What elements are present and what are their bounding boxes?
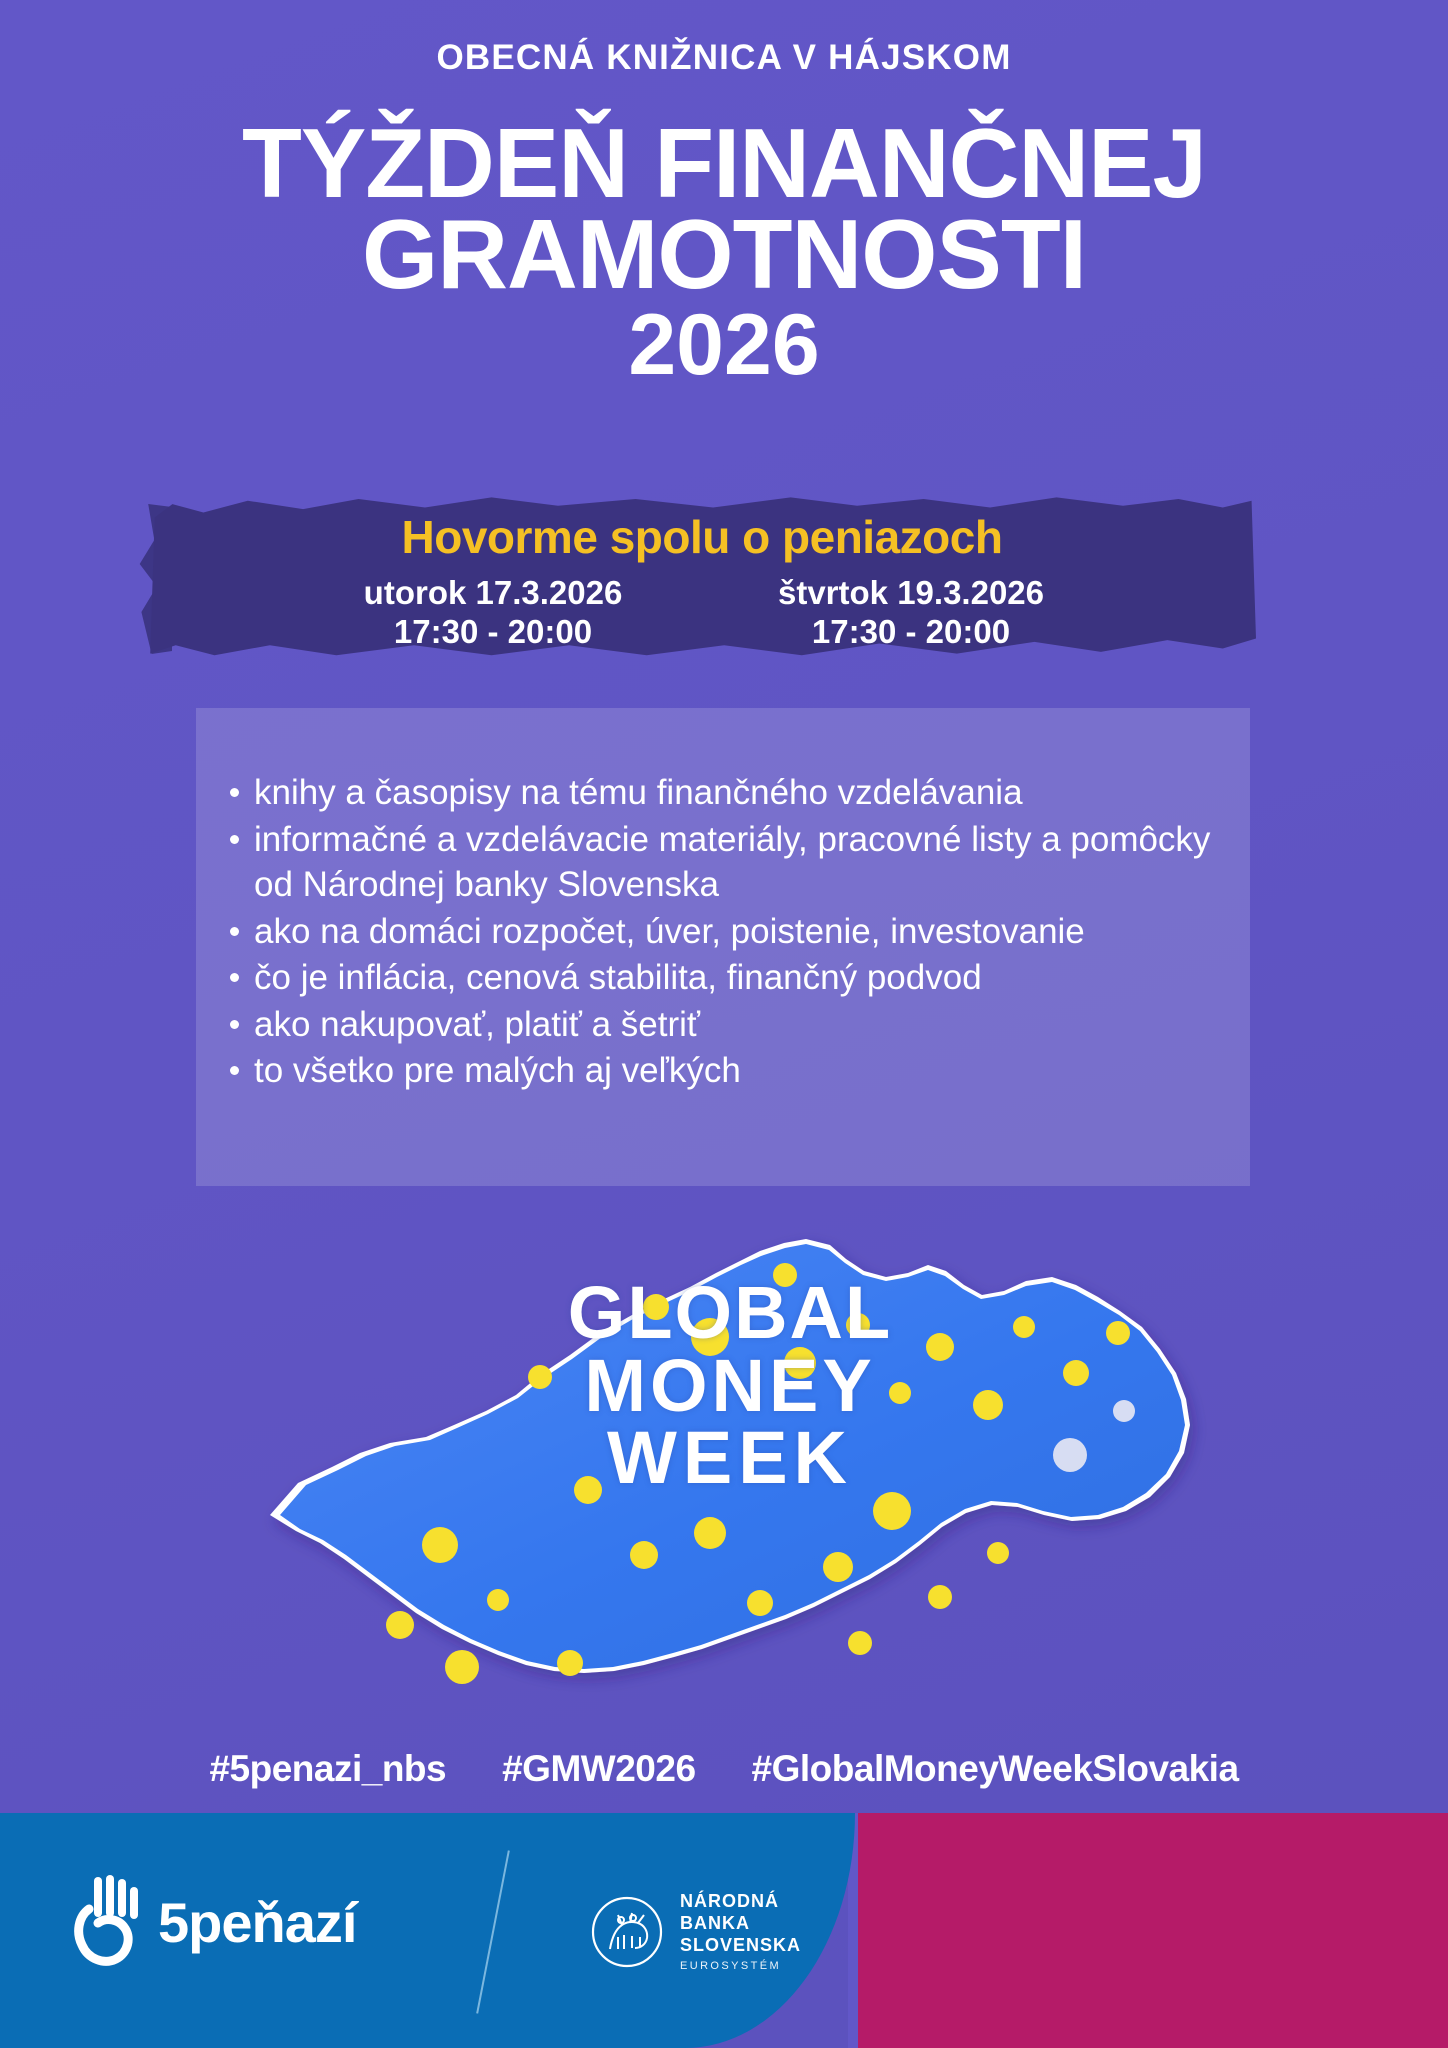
activities-list: knihy a časopisy na tému finančného vzde… [222,770,1232,1095]
gmw-word-money: MONEY [240,1350,1220,1423]
event-1-time: 17:30 - 20:00 [328,613,658,652]
nbs-logo: NÁRODNÁ BANKA SLOVENSKA EUROSYSTÉM [588,1891,801,1973]
gmw-word-week: WEEK [240,1422,1220,1495]
banner-headline: Hovorme spolu o peniazoch [402,510,1003,564]
event-date-2: štvrtok 19.3.2026 17:30 - 20:00 [746,574,1076,652]
five-penazi-label: 5peňazí [158,1890,356,1955]
event-1-day: utorok 17.3.2026 [328,574,658,613]
footer-bar: 5peňazí NÁRODNÁ BANKA SLOVENSKA EUROSYST… [0,1813,1448,2048]
nbs-line-2: BANKA [680,1913,801,1935]
slovakia-map-graphic: GLOBAL MONEY WEEK [240,1215,1220,1705]
five-penazi-logo: 5peňazí [72,1875,356,1969]
event-dates: utorok 17.3.2026 17:30 - 20:00 štvrtok 1… [328,574,1076,652]
event-banner: Hovorme spolu o peniazoch utorok 17.3.20… [148,494,1256,662]
hashtag-row: #5penazi_nbs #GMW2026 #GlobalMoneyWeekSl… [0,1748,1448,1790]
event-2-day: štvrtok 19.3.2026 [746,574,1076,613]
hashtag-globalmoneyweekslovakia: #GlobalMoneyWeekSlovakia [752,1748,1239,1790]
hashtag-gmw2026: #GMW2026 [502,1748,695,1790]
list-item: to všetko pre malých aj veľkých [222,1048,1232,1094]
event-2-time: 17:30 - 20:00 [746,613,1076,652]
title-line-1: TÝŽDEŇ FINANČNEJ [0,118,1448,209]
nbs-label: NÁRODNÁ BANKA SLOVENSKA EUROSYSTÉM [680,1891,801,1973]
list-item: knihy a časopisy na tému finančného vzde… [222,770,1232,816]
list-item: čo je inflácia, cenová stabilita, finanč… [222,955,1232,1001]
global-money-week-wordmark: GLOBAL MONEY WEEK [240,1277,1220,1495]
list-item: ako na domáci rozpočet, úver, poistenie,… [222,909,1232,955]
footer-divider [476,1850,510,2013]
page-title: TÝŽDEŇ FINANČNEJ GRAMOTNOSTI 2026 [0,118,1448,386]
nbs-line-3: SLOVENSKA [680,1935,801,1957]
title-line-2: GRAMOTNOSTI [0,209,1448,300]
nbs-seal-icon [588,1893,666,1971]
organisation-name: OBECNÁ KNIŽNICA V HÁJSKOM [0,38,1448,78]
nbs-line-4: EUROSYSTÉM [680,1960,801,1973]
footer-magenta-panel: GLOBAL MONEY WEEK ® ANNUAL FINANCIAL AWA… [858,1813,1448,2048]
event-date-1: utorok 17.3.2026 17:30 - 20:00 [328,574,658,652]
title-year: 2026 [0,306,1448,386]
list-item: ako nakupovať, platiť a šetriť [222,1002,1232,1048]
gmw-word-global: GLOBAL [240,1277,1220,1350]
nbs-line-1: NÁRODNÁ [680,1891,801,1913]
hashtag-5penazi: #5penazi_nbs [209,1748,446,1790]
list-item: informačné a vzdelávacie materiály, prac… [222,817,1232,908]
hand-icon [72,1875,144,1969]
footer-blue-panel: 5peňazí NÁRODNÁ BANKA SLOVENSKA EUROSYST… [0,1813,855,2048]
poster-root: OBECNÁ KNIŽNICA V HÁJSKOM TÝŽDEŇ FINANČN… [0,0,1448,2048]
